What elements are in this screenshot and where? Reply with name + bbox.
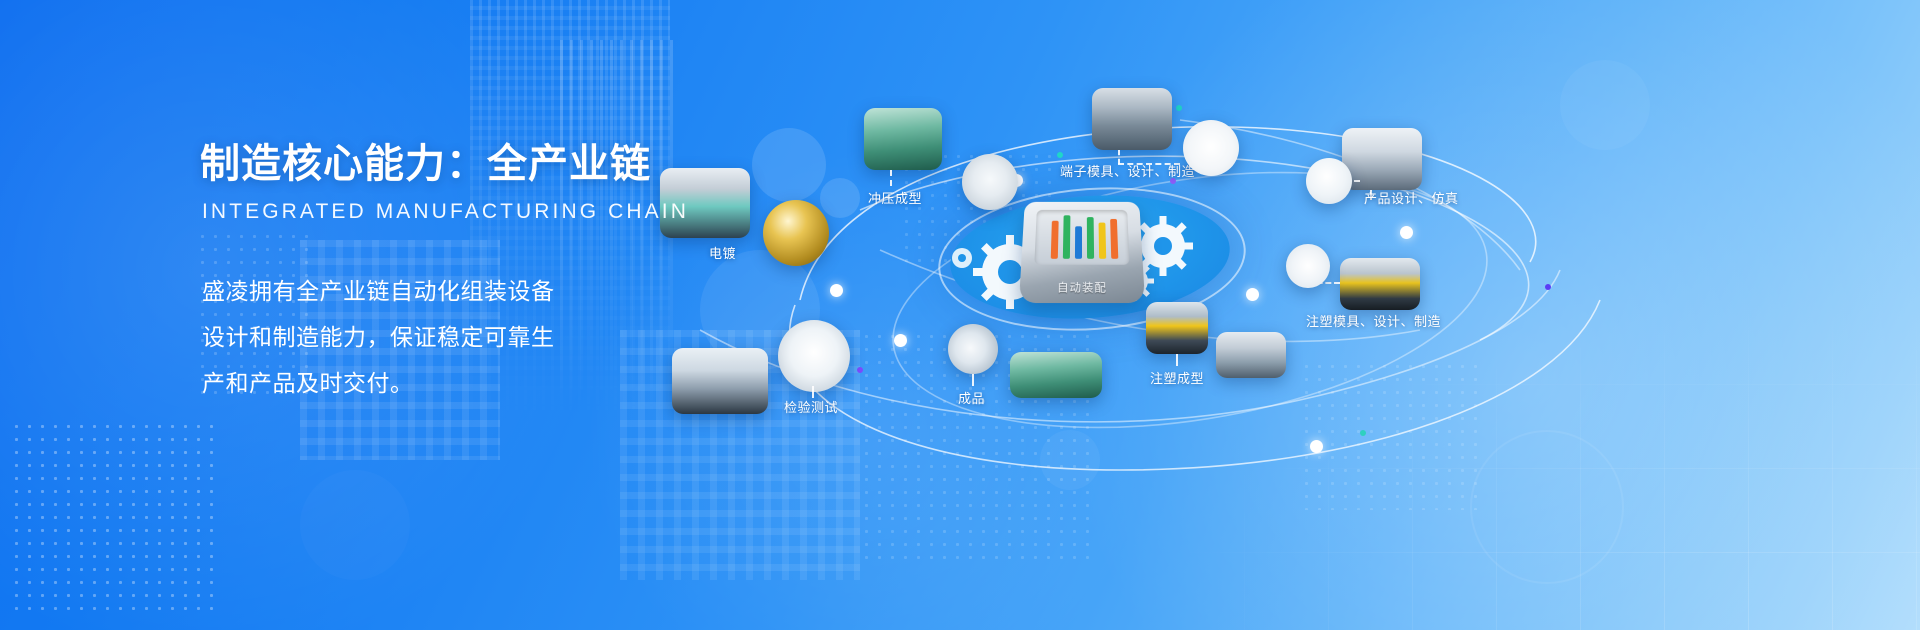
orbit-dot-5 bbox=[1400, 226, 1413, 239]
stamping-detail-circle bbox=[962, 154, 1018, 210]
spark-teal-3 bbox=[1360, 430, 1366, 436]
finished-goods-thumbnail[interactable] bbox=[948, 324, 998, 374]
terminal-mold-thumbnail[interactable] bbox=[1092, 88, 1172, 150]
stamping-thumbnail[interactable] bbox=[864, 108, 942, 170]
finished-goods-line-thumbnail bbox=[1010, 352, 1102, 398]
stamping-connector bbox=[890, 170, 892, 186]
terminal-mold-3d-circle bbox=[1183, 120, 1239, 176]
orbit-dot-6 bbox=[1310, 440, 1323, 453]
machine-pin-1 bbox=[1051, 221, 1059, 259]
machine-cavity bbox=[1034, 210, 1129, 265]
auto-assembly-machine: 自动装配 bbox=[1022, 198, 1142, 302]
machine-pin-5 bbox=[1099, 223, 1107, 259]
product-design-3d-circle bbox=[1306, 158, 1352, 204]
orbit-dot-1 bbox=[830, 284, 843, 297]
orbit-dot-4 bbox=[1246, 288, 1259, 301]
machine-pin-4 bbox=[1087, 217, 1094, 259]
injection-forming-thumbnail[interactable] bbox=[1146, 302, 1208, 354]
machine-shell: 自动装配 bbox=[1019, 202, 1145, 303]
body-paragraph: 盛凌拥有全产业链自动化组装设备设计和制造能力，保证稳定可靠生产和产品及时交付。 bbox=[202, 268, 574, 406]
spark-teal-1 bbox=[1176, 105, 1182, 111]
page-title: 制造核心能力：全产业链 bbox=[200, 140, 800, 188]
machine-pin-2 bbox=[1063, 215, 1071, 259]
injection-mold-jig-circle bbox=[1286, 244, 1330, 288]
spark-violet-2 bbox=[857, 367, 863, 373]
machine-pin-3 bbox=[1075, 226, 1082, 259]
orbit-dot-2 bbox=[894, 334, 907, 347]
node-label-injection-mold: 注塑模具、设计、制造 bbox=[1306, 311, 1441, 330]
node-label-terminal-mold: 端子模具、设计、制造 bbox=[1060, 161, 1195, 180]
node-label-product-design: 产品设计、仿真 bbox=[1364, 188, 1459, 207]
page-subtitle: INTEGRATED MANUFACTURING CHAIN bbox=[202, 200, 800, 224]
finished-goods-connector bbox=[972, 374, 974, 386]
injection-forming-connector bbox=[1176, 354, 1178, 366]
node-label-injection-forming: 注塑成型 bbox=[1150, 368, 1204, 387]
injection-forming-line-thumbnail bbox=[1216, 332, 1286, 378]
machine-pin-6 bbox=[1110, 219, 1118, 259]
node-label-finished-goods: 成品 bbox=[958, 388, 985, 407]
injection-mold-thumbnail[interactable] bbox=[1340, 258, 1420, 310]
manufacturing-chain-banner: 制造核心能力：全产业链 INTEGRATED MANUFACTURING CHA… bbox=[0, 0, 1920, 630]
spark-violet-3 bbox=[1545, 284, 1551, 290]
spark-teal-2 bbox=[1057, 152, 1063, 158]
headline-block: 制造核心能力：全产业链 INTEGRATED MANUFACTURING CHA… bbox=[200, 140, 800, 406]
center-machine-label: 自动装配 bbox=[1019, 279, 1144, 296]
node-label-stamping: 冲压成型 bbox=[868, 188, 922, 207]
